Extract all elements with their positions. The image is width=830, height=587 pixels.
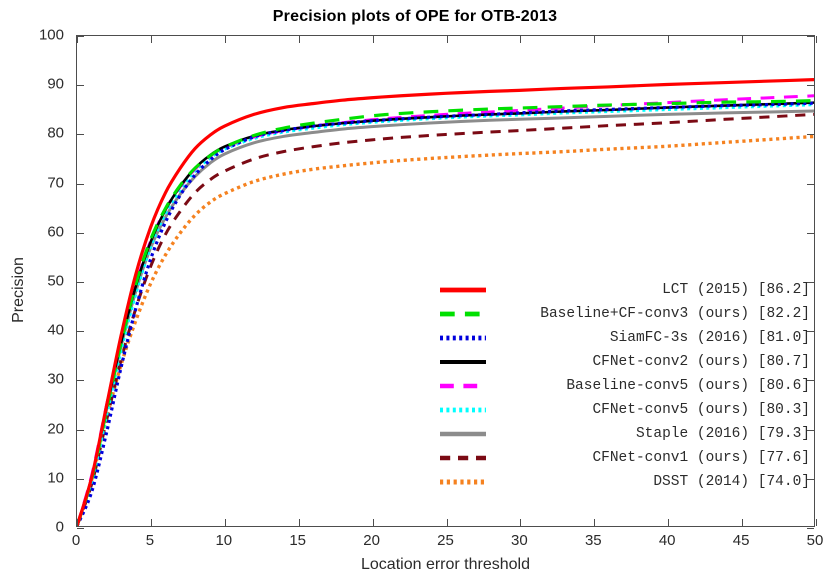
x-axis-tick (594, 36, 595, 43)
y-axis-tick (77, 134, 84, 135)
x-axis-tick (373, 519, 374, 526)
x-axis-tick (299, 519, 300, 526)
y-tick-label: 70 (0, 174, 64, 191)
x-axis-tick (447, 36, 448, 43)
x-tick-label: 40 (659, 532, 676, 549)
y-axis-tick (77, 184, 84, 185)
y-axis-tick (807, 528, 814, 529)
y-axis-tick (77, 282, 84, 283)
x-axis-tick (373, 36, 374, 43)
x-axis-tick (447, 519, 448, 526)
x-tick-label: 45 (733, 532, 750, 549)
legend-item[interactable]: DSST (2014) [74.0] (438, 470, 814, 494)
x-axis-tick (225, 519, 226, 526)
y-axis-tick (77, 430, 84, 431)
legend-color-swatch (438, 403, 488, 417)
x-tick-label: 15 (289, 532, 306, 549)
legend-item-label: Baseline+CF-conv3 (ours) [82.2] (540, 306, 810, 322)
x-axis-tick (77, 36, 78, 43)
y-axis-tick (807, 184, 814, 185)
x-axis-tick (594, 519, 595, 526)
y-axis-tick (807, 233, 814, 234)
y-tick-label: 80 (0, 125, 64, 142)
legend-color-swatch (438, 451, 488, 465)
y-tick-label: 100 (0, 27, 64, 44)
y-axis-tick (807, 134, 814, 135)
legend-color-swatch (438, 355, 488, 369)
legend-item-label: SiamFC-3s (2016) [81.0] (610, 330, 810, 346)
x-tick-label: 35 (585, 532, 602, 549)
legend-color-swatch (438, 379, 488, 393)
y-axis-tick (807, 85, 814, 86)
x-tick-label: 25 (437, 532, 454, 549)
y-tick-label: 0 (0, 519, 64, 536)
y-axis-title: Precision (10, 200, 28, 380)
y-tick-label: 90 (0, 76, 64, 93)
x-tick-label: 30 (511, 532, 528, 549)
x-axis-tick (742, 519, 743, 526)
legend-item[interactable]: CFNet-conv5 (ours) [80.3] (438, 398, 814, 422)
legend-color-swatch (438, 307, 488, 321)
legend-item[interactable]: Baseline+CF-conv3 (ours) [82.2] (438, 302, 814, 326)
y-tick-label: 10 (0, 469, 64, 486)
x-axis-tick (668, 519, 669, 526)
x-axis-tick (225, 36, 226, 43)
legend-color-swatch (438, 331, 488, 345)
y-axis-tick (77, 380, 84, 381)
y-axis-tick (77, 233, 84, 234)
y-axis-tick (77, 331, 84, 332)
legend-item-label: DSST (2014) [74.0] (653, 474, 810, 490)
y-tick-label: 20 (0, 420, 64, 437)
legend-item-label: CFNet-conv1 (ours) [77.6] (592, 450, 810, 466)
legend-color-swatch (438, 283, 488, 297)
y-axis-tick (77, 36, 84, 37)
legend-item[interactable]: CFNet-conv1 (ours) [77.6] (438, 446, 814, 470)
legend-item-label: LCT (2015) [86.2] (662, 282, 810, 298)
legend-item[interactable]: CFNet-conv2 (ours) [80.7] (438, 350, 814, 374)
y-axis-tick (77, 528, 84, 529)
legend-item-label: Baseline-conv5 (ours) [80.6] (566, 378, 810, 394)
x-axis-tick (299, 36, 300, 43)
x-axis-tick (520, 36, 521, 43)
chart-legend: LCT (2015) [86.2]Baseline+CF-conv3 (ours… (438, 278, 814, 494)
x-tick-label: 20 (363, 532, 380, 549)
x-axis-tick (668, 36, 669, 43)
x-axis-tick (151, 519, 152, 526)
legend-item[interactable]: LCT (2015) [86.2] (438, 278, 814, 302)
y-axis-tick (807, 36, 814, 37)
legend-color-swatch (438, 475, 488, 489)
x-tick-label: 5 (146, 532, 154, 549)
legend-item[interactable]: Baseline-conv5 (ours) [80.6] (438, 374, 814, 398)
x-axis-tick (151, 36, 152, 43)
x-tick-label: 0 (72, 532, 80, 549)
x-axis-tick (742, 36, 743, 43)
x-axis-tick (77, 519, 78, 526)
x-axis-title: Location error threshold (76, 556, 815, 574)
x-tick-label: 50 (807, 532, 824, 549)
legend-item-label: Staple (2016) [79.3] (636, 426, 810, 442)
legend-item[interactable]: SiamFC-3s (2016) [81.0] (438, 326, 814, 350)
figure-container: Precision plots of OPE for OTB-2013 0510… (0, 0, 830, 587)
page-title: Precision plots of OPE for OTB-2013 (0, 8, 830, 26)
y-axis-tick (77, 479, 84, 480)
legend-color-swatch (438, 427, 488, 441)
legend-item-label: CFNet-conv2 (ours) [80.7] (592, 354, 810, 370)
x-axis-tick (816, 519, 817, 526)
x-axis-tick (520, 519, 521, 526)
x-tick-label: 10 (215, 532, 232, 549)
y-axis-tick (77, 85, 84, 86)
x-axis-tick (816, 36, 817, 43)
legend-item-label: CFNet-conv5 (ours) [80.3] (592, 402, 810, 418)
legend-item[interactable]: Staple (2016) [79.3] (438, 422, 814, 446)
